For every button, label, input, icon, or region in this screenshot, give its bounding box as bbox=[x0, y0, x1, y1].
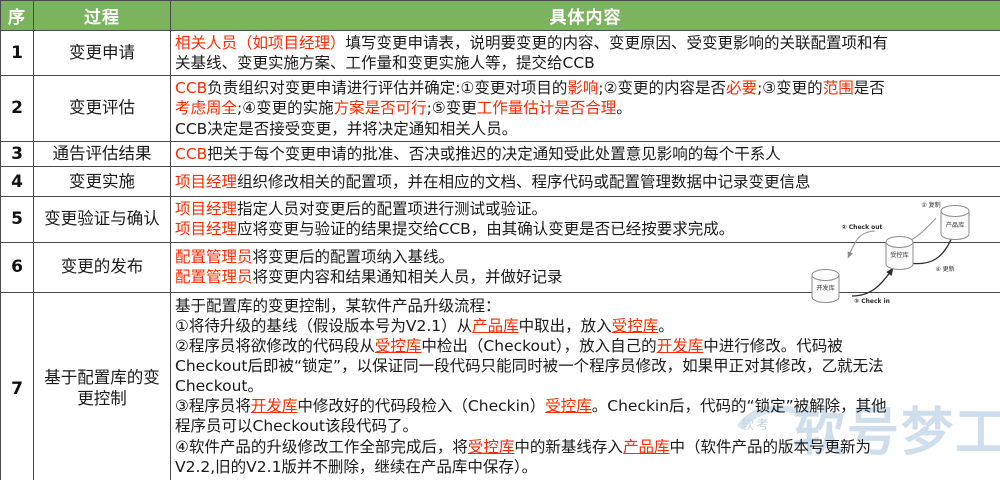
detail-text: 受控库 bbox=[612, 317, 659, 335]
detail-text: 程序员可以Checkout该段代码了。 bbox=[175, 417, 418, 435]
detail-text: 指定人员对变更后的配置项进行测试或验证。 bbox=[237, 200, 547, 218]
table-row: 2变更评估CCB负责组织对变更申请进行评估并确定:①变更对项目的影响;②变更的内… bbox=[1, 76, 1000, 141]
cell-details: 配置管理员将变更后的配置项纳入基线。配置管理员将变更内容和结果通知相关人员，并做… bbox=[171, 242, 1000, 292]
detail-text: 产品库 bbox=[472, 317, 519, 335]
detail-line: 相关人员（如项目经理）填写变更申请表，说明要变更的内容、变更原因、受变更影响的关… bbox=[175, 33, 996, 53]
detail-text: 项目经理 bbox=[175, 200, 237, 218]
spreadsheet-canvas: 软考 软号梦工厂 序 过程 具体内容 1变更申请相关人员（如项目经理）填写变更申… bbox=[0, 0, 1000, 480]
table-body: 1变更申请相关人员（如项目经理）填写变更申请表，说明要变更的内容、变更原因、受变… bbox=[1, 31, 1000, 480]
detail-text: ;⑤变更 bbox=[427, 99, 477, 117]
header-row: 序 过程 具体内容 bbox=[1, 1, 1000, 31]
detail-line: 项目经理应将变更与验证的结果提交给CCB，由其确认变更是否已经按要求完成。 bbox=[175, 219, 996, 239]
detail-line: 程序员可以Checkout该段代码了。 bbox=[175, 416, 996, 436]
cell-process: 变更验证与确认 bbox=[34, 197, 171, 242]
detail-text: ③程序员将 bbox=[175, 397, 251, 415]
column-header-details: 具体内容 bbox=[171, 1, 1000, 31]
detail-text: 。 bbox=[616, 99, 632, 117]
detail-text: ;④变更的实施 bbox=[237, 99, 334, 117]
detail-text: 开发库 bbox=[657, 337, 704, 355]
detail-text: 受控库 bbox=[468, 438, 515, 456]
detail-text: 中修改好的代码段检入（Checkin） bbox=[297, 397, 545, 415]
detail-text: 基于配置库的变更控制，某软件产品升级流程： bbox=[175, 297, 501, 315]
detail-text: 项目经理 bbox=[175, 220, 237, 238]
detail-line: 关基线、变更实施方案、工作量和变更实施人等，提交给CCB bbox=[175, 53, 996, 73]
cell-process: 通告评估结果 bbox=[34, 141, 171, 167]
detail-text: 填写变更申请表，说明要变更的内容、变更原因、受变更影响的关联配置项和有 bbox=[346, 34, 889, 52]
detail-text: 配置管理员 bbox=[175, 268, 253, 286]
detail-text: 开发库 bbox=[251, 397, 298, 415]
cell-seq: 3 bbox=[1, 141, 34, 167]
column-header-seq: 序 bbox=[1, 1, 34, 31]
detail-line: V2.2,旧的V2.1版并不删除，继续在产品库中保存）。 bbox=[175, 457, 996, 477]
cell-details: 项目经理组织修改相关的配置项，并在相应的文档、程序代码或配置管理数据中记录变更信… bbox=[171, 167, 1000, 197]
detail-line: 项目经理组织修改相关的配置项，并在相应的文档、程序代码或配置管理数据中记录变更信… bbox=[175, 172, 996, 192]
cell-seq: 1 bbox=[1, 31, 34, 76]
detail-line: ④软件产品的升级修改工作全部完成后，将受控库中的新基线存入产品库中（软件产品的版… bbox=[175, 437, 996, 457]
detail-text: 关基线、变更实施方案、工作量和变更实施人等，提交给CCB bbox=[175, 54, 595, 72]
detail-text: 将变更内容和结果通知相关人员，并做好记录 bbox=[253, 268, 563, 286]
detail-line: Checkout后即被“锁定”，以保证同一段代码只能同时被一个程序员修改，如果甲… bbox=[175, 356, 996, 376]
column-header-process: 过程 bbox=[34, 1, 171, 31]
detail-text: 受控库 bbox=[545, 397, 592, 415]
detail-text: CCB决定是否接受变更，并将决定通知相关人员。 bbox=[175, 120, 517, 138]
detail-line: 配置管理员将变更后的配置项纳入基线。 bbox=[175, 247, 996, 267]
detail-line: ②程序员将欲修改的代码段从受控库中检出（Checkout），放入自己的开发库中进… bbox=[175, 336, 996, 356]
detail-text: 负责组织对变更申请进行评估并确定:①变更对项目的 bbox=[207, 79, 567, 97]
detail-line: 基于配置库的变更控制，某软件产品升级流程： bbox=[175, 296, 996, 316]
detail-text: 将变更后的配置项纳入基线。 bbox=[253, 248, 455, 266]
detail-text: 中（软件产品的版本号更新为 bbox=[669, 438, 871, 456]
detail-line: CCB决定是否接受变更，并将决定通知相关人员。 bbox=[175, 119, 996, 139]
detail-text: 考虑周全 bbox=[175, 99, 237, 117]
cell-process: 基于配置库的变更控制 bbox=[34, 292, 171, 480]
detail-text: ④软件产品的升级修改工作全部完成后，将 bbox=[175, 438, 468, 456]
detail-text: 影响 bbox=[567, 79, 598, 97]
detail-text: Checkout后即被“锁定”，以保证同一段代码只能同时被一个程序员修改，如果甲… bbox=[175, 357, 884, 375]
table-row: 1变更申请相关人员（如项目经理）填写变更申请表，说明要变更的内容、变更原因、受变… bbox=[1, 31, 1000, 76]
detail-line: CCB把关于每个变更申请的批准、否决或推迟的决定通知受此处置意见影响的每个干系人 bbox=[175, 144, 996, 164]
detail-text: 组织修改相关的配置项，并在相应的文档、程序代码或配置管理数据中记录变更信息 bbox=[237, 173, 811, 191]
detail-text: ;③变更的 bbox=[757, 79, 823, 97]
table-row: 7基于配置库的变更控制基于配置库的变更控制，某软件产品升级流程：①将待升级的基线… bbox=[1, 292, 1000, 480]
detail-text: 中检出（Checkout），放入自己的 bbox=[421, 337, 656, 355]
cell-details: 相关人员（如项目经理）填写变更申请表，说明要变更的内容、变更原因、受变更影响的关… bbox=[171, 31, 1000, 76]
detail-text: 必要 bbox=[726, 79, 757, 97]
detail-line: ①将待升级的基线（假设版本号为V2.1）从产品库中取出，放入受控库。 bbox=[175, 316, 996, 336]
table-row: 5变更验证与确认项目经理指定人员对变更后的配置项进行测试或验证。项目经理应将变更… bbox=[1, 197, 1000, 242]
cell-process: 变更申请 bbox=[34, 31, 171, 76]
change-control-process-table: 序 过程 具体内容 1变更申请相关人员（如项目经理）填写变更申请表，说明要变更的… bbox=[0, 0, 1000, 480]
detail-line: Checkout。 bbox=[175, 376, 996, 396]
table-header: 序 过程 具体内容 bbox=[1, 1, 1000, 31]
detail-text: 项目经理 bbox=[175, 173, 237, 191]
detail-text: 把关于每个变更申请的批准、否决或推迟的决定通知受此处置意见影响的每个干系人 bbox=[207, 145, 781, 163]
detail-line: 项目经理指定人员对变更后的配置项进行测试或验证。 bbox=[175, 199, 996, 219]
cell-details: 基于配置库的变更控制，某软件产品升级流程：①将待升级的基线（假设版本号为V2.1… bbox=[171, 292, 1000, 480]
detail-text: 中进行修改。代码被 bbox=[703, 337, 843, 355]
cell-seq: 2 bbox=[1, 76, 34, 141]
detail-text: Checkout。 bbox=[175, 377, 263, 395]
detail-text: CCB bbox=[175, 145, 207, 163]
detail-text: V2.2,旧的V2.1版并不删除，继续在产品库中保存）。 bbox=[175, 458, 537, 476]
detail-text: 。 bbox=[658, 317, 674, 335]
detail-text: ;②变更的内容是否 bbox=[598, 79, 726, 97]
cell-process: 变更的发布 bbox=[34, 242, 171, 292]
cell-process: 变更实施 bbox=[34, 167, 171, 197]
table-row: 6变更的发布配置管理员将变更后的配置项纳入基线。配置管理员将变更内容和结果通知相… bbox=[1, 242, 1000, 292]
cell-seq: 4 bbox=[1, 167, 34, 197]
cell-details: CCB负责组织对变更申请进行评估并确定:①变更对项目的影响;②变更的内容是否必要… bbox=[171, 76, 1000, 141]
detail-text: 是否 bbox=[854, 79, 885, 97]
cell-seq: 6 bbox=[1, 242, 34, 292]
detail-text: 产品库 bbox=[623, 438, 670, 456]
detail-text: CCB bbox=[175, 79, 207, 97]
cell-details: 项目经理指定人员对变更后的配置项进行测试或验证。项目经理应将变更与验证的结果提交… bbox=[171, 197, 1000, 242]
cell-seq: 5 bbox=[1, 197, 34, 242]
detail-line: 配置管理员将变更内容和结果通知相关人员，并做好记录 bbox=[175, 267, 996, 287]
detail-line: ③程序员将开发库中修改好的代码段检入（Checkin）受控库。Checkin后，… bbox=[175, 396, 996, 416]
detail-text: 工作量估计是否合理 bbox=[477, 99, 617, 117]
detail-text: 方案是否可行 bbox=[334, 99, 427, 117]
detail-line: CCB负责组织对变更申请进行评估并确定:①变更对项目的影响;②变更的内容是否必要… bbox=[175, 78, 996, 98]
table-row: 3通告评估结果CCB把关于每个变更申请的批准、否决或推迟的决定通知受此处置意见影… bbox=[1, 141, 1000, 167]
cell-seq: 7 bbox=[1, 292, 34, 480]
detail-text: 中取出，放入 bbox=[519, 317, 612, 335]
detail-text: 范围 bbox=[823, 79, 854, 97]
cell-details: CCB把关于每个变更申请的批准、否决或推迟的决定通知受此处置意见影响的每个干系人 bbox=[171, 141, 1000, 167]
detail-text: 中的新基线存入 bbox=[514, 438, 623, 456]
table-row: 4变更实施项目经理组织修改相关的配置项，并在相应的文档、程序代码或配置管理数据中… bbox=[1, 167, 1000, 197]
detail-text: 。Checkin后，代码的“锁定”被解除，其他 bbox=[592, 397, 887, 415]
cell-process: 变更评估 bbox=[34, 76, 171, 141]
detail-text: 配置管理员 bbox=[175, 248, 253, 266]
detail-text: 相关人员（如项目经理） bbox=[175, 34, 346, 52]
detail-line: 考虑周全;④变更的实施方案是否可行;⑤变更工作量估计是否合理。 bbox=[175, 98, 996, 118]
detail-text: ②程序员将欲修改的代码段从 bbox=[175, 337, 375, 355]
detail-text: 受控库 bbox=[375, 337, 422, 355]
detail-text: ①将待升级的基线（假设版本号为V2.1）从 bbox=[175, 317, 472, 335]
detail-text: 应将变更与验证的结果提交给CCB，由其确认变更是否已经按要求完成。 bbox=[237, 220, 734, 238]
